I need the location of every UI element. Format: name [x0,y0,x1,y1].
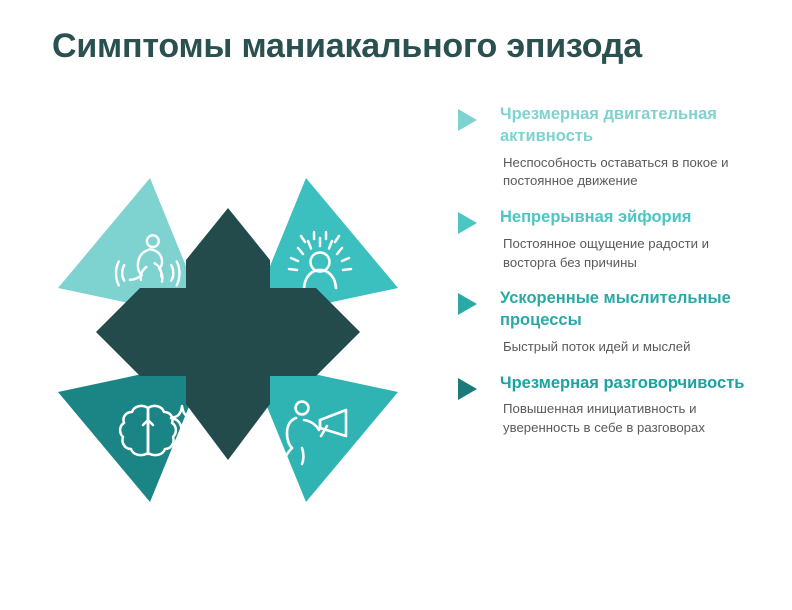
triangle-right-icon [458,109,477,131]
symptom-body: Неспособность оставаться в покое и посто… [500,154,755,191]
symptom-body: Быстрый поток идей и мыслей [500,338,755,357]
symptom-body: Постоянное ощущение радости и восторга б… [500,235,755,272]
central-graphic [48,160,408,520]
symptom-item-4: Чрезмерная разговорчивость Повышенная ин… [458,373,758,438]
triangle-right-icon [458,378,477,400]
symptom-item-3: Ускоренные мыслительные процессы Быстрый… [458,288,758,356]
symptom-body: Повышенная инициативность и уверенность … [500,400,755,437]
symptoms-list: Чрезмерная двигательная активность Неспо… [458,104,758,454]
symptom-heading: Непрерывная эйфория [500,207,758,229]
wedge-bottom-right [248,360,398,502]
infographic-canvas: Симптомы маниакального эпизода [0,0,792,610]
symptom-item-2: Непрерывная эйфория Постоянное ощущение … [458,207,758,272]
page-title: Симптомы маниакального эпизода [52,27,642,66]
triangle-right-icon [458,212,477,234]
wedge-bottom-left-shape [58,360,208,502]
symptom-heading: Ускоренные мыслительные процессы [500,288,758,332]
wedge-bottom-left [58,360,208,502]
symptom-heading: Чрезмерная двигательная активность [500,104,758,148]
symptom-heading: Чрезмерная разговорчивость [500,373,758,395]
triangle-right-icon [458,293,477,315]
symptom-item-1: Чрезмерная двигательная активность Неспо… [458,104,758,191]
